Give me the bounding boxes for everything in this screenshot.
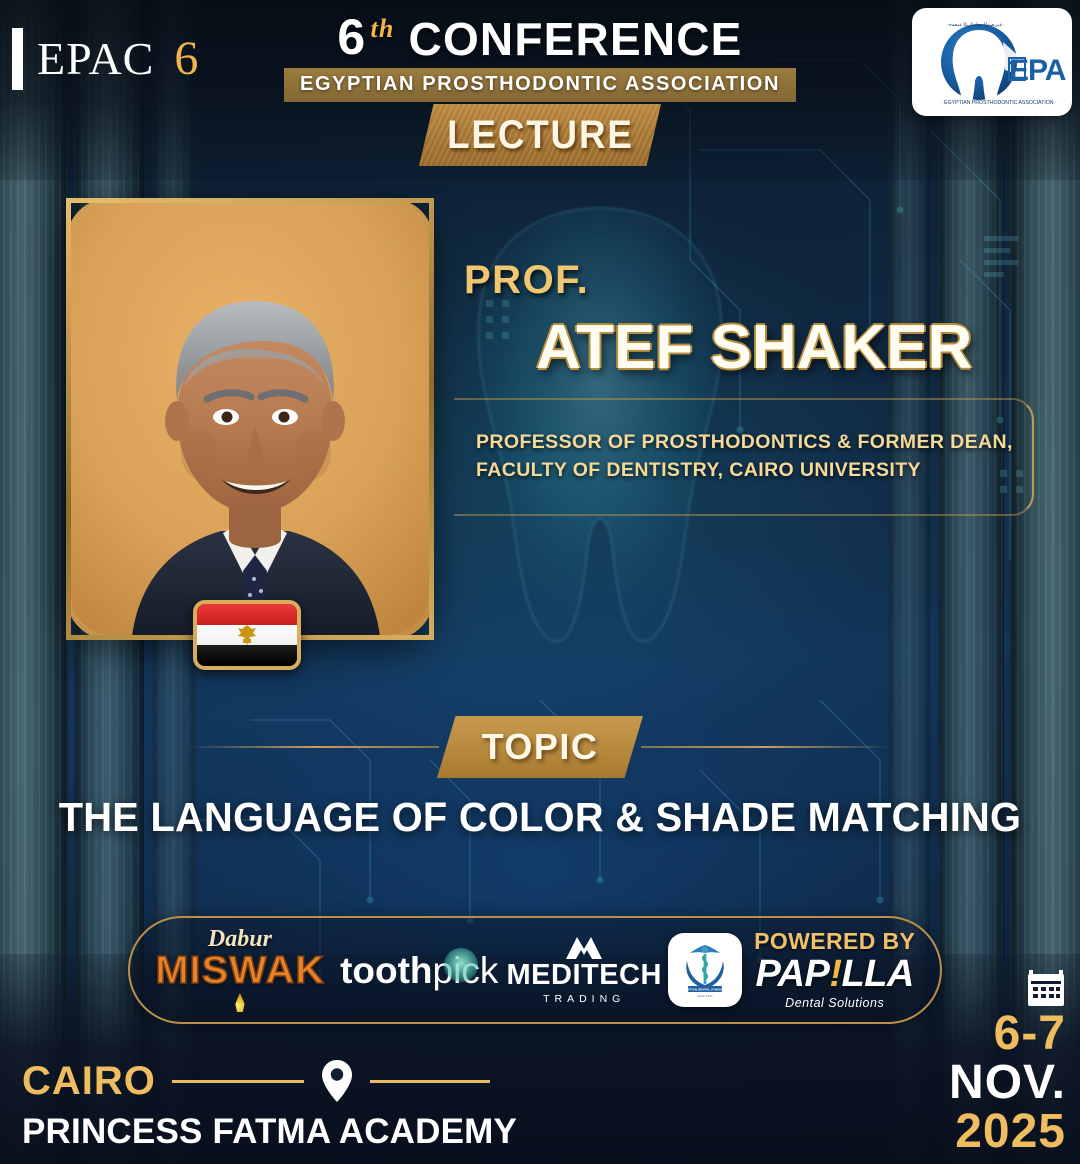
calendar-icon — [1026, 968, 1066, 1008]
eds-badge: EGYPTIAN DENTAL SYNDICATE Since 1937 — [668, 933, 742, 1007]
papilla-exclamation-icon: ! — [829, 953, 841, 995]
svg-text:Since 1937: Since 1937 — [697, 994, 712, 998]
calendar-icon-wrap — [949, 968, 1066, 1008]
toothpick-wordmark: toothpick — [340, 952, 498, 989]
sponsor-toothpick: toothpick — [332, 952, 507, 989]
location-pin-icon — [320, 1058, 354, 1104]
meditech-mountain-icon — [564, 935, 604, 961]
miswak-droplet-icon — [233, 993, 246, 1013]
sponsor-bar: Dabur MISWAK toothpick MEDITECH TRADING — [128, 916, 942, 1024]
speaker-photo-illustration — [71, 203, 429, 635]
svg-text:EGYPTIAN DENTAL SYNDICATE: EGYPTIAN DENTAL SYNDICATE — [681, 988, 728, 992]
sponsor-meditech: MEDITECH TRADING — [507, 935, 662, 1005]
speaker-credentials: PROFESSOR OF PROSTHODONTICS & FORMER DEA… — [476, 428, 1013, 485]
eagle-of-saladin-icon — [234, 622, 260, 648]
miswak-product-label: MISWAK — [155, 951, 325, 992]
speaker-photo — [71, 203, 429, 635]
topic-badge: TOPIC — [437, 716, 643, 778]
dabur-brand-label: Dabur — [208, 927, 272, 951]
speaker-name: ATEF SHAKER — [536, 312, 972, 383]
venue-block: CAIRO PRINCESS FATMA ACADEMY — [22, 1058, 517, 1149]
epa-association-logo: EPA ·ﺔﻳﺮﺼﻤﻟﺍ ﺕﺎﺒﻴﻛﺮﺘﻟﺍ ﺔﻴﻌﻤﺟ· · EGYPTIAN… — [912, 8, 1072, 116]
venue-rule-left — [172, 1080, 304, 1083]
credentials-line-2: FACULTY OF DENTISTRY, CAIRO UNIVERSITY — [476, 456, 1013, 484]
egypt-flag-icon — [193, 600, 301, 670]
sponsor-dabur-miswak: Dabur MISWAK — [148, 927, 332, 1013]
speaker-portrait-frame — [66, 198, 434, 640]
session-type-banner: LECTURE — [419, 104, 661, 166]
papilla-wordmark: PAP!LLA — [756, 955, 914, 995]
venue-place: PRINCESS FATMA ACADEMY — [22, 1114, 517, 1149]
svg-text:·ﺔﻳﺮﺼﻤﻟﺍ ﺕﺎﺒﻴﻛﺮﺘﻟﺍ ﺔﻴﻌﻤﺟ·: ·ﺔﻳﺮﺼﻤﻟﺍ ﺕﺎﺒﻴﻛﺮﺘﻟﺍ ﺔﻴﻌﻤﺟ· — [947, 22, 1004, 28]
toothpick-circle-icon — [444, 948, 478, 982]
conference-word: CONFERENCE — [409, 12, 743, 66]
toothpick-word-bold: tooth — [340, 950, 432, 991]
date-month: NOV. — [949, 1059, 1066, 1108]
topic-title: THE LANGUAGE OF COLOR & SHADE MATCHING — [16, 794, 1064, 841]
epa-logo-mark: EPA ·ﺔﻳﺮﺼﻤﻟﺍ ﺕﺎﺒﻴﻛﺮﺘﻟﺍ ﺔﻴﻌﻤﺟ· · EGYPTIAN… — [917, 12, 1067, 112]
association-name-bar: EGYPTIAN PROSTHODONTIC ASSOCIATION — [284, 68, 796, 102]
edition-number: 6 — [337, 12, 366, 62]
venue-city-row: CAIRO — [22, 1058, 517, 1104]
edition-ordinal: th — [370, 14, 394, 44]
conference-poster: EPAC 6 6 th CONFERENCE EGYPTIAN PROSTHOD… — [0, 0, 1080, 1164]
topic-rule-left — [189, 746, 439, 748]
speaker-title: PROF. — [464, 258, 589, 303]
sponsor-egyptian-dental-syndicate: EGYPTIAN DENTAL SYNDICATE Since 1937 — [662, 933, 747, 1007]
meditech-tagline: TRADING — [543, 993, 625, 1005]
venue-rule-right — [370, 1080, 490, 1083]
powered-by-label: POWERED BY — [754, 930, 915, 953]
credentials-line-1: PROFESSOR OF PROSTHODONTICS & FORMER DEA… — [476, 428, 1013, 456]
svg-text:· EGYPTIAN PROSTHODONTIC ASSOC: · EGYPTIAN PROSTHODONTIC ASSOCIATION · — [941, 100, 1057, 106]
session-type-label: LECTURE — [447, 113, 634, 158]
papilla-tagline: Dental Solutions — [785, 996, 884, 1010]
topic-badge-label: TOPIC — [482, 726, 599, 768]
sponsor-papilla: POWERED BY PAP!LLA Dental Solutions — [747, 930, 922, 1010]
topic-header-row: TOPIC — [0, 716, 1080, 778]
topic-rule-right — [641, 746, 891, 748]
date-year: 2025 — [949, 1108, 1066, 1157]
date-days: 6-7 — [949, 1010, 1066, 1059]
flag-stripe-black — [197, 645, 297, 666]
meditech-wordmark: MEDITECH — [507, 961, 662, 990]
date-block: 6-7 NOV. 2025 — [949, 968, 1066, 1157]
venue-city: CAIRO — [22, 1061, 156, 1101]
eds-emblem-icon: EGYPTIAN DENTAL SYNDICATE Since 1937 — [674, 939, 736, 1001]
